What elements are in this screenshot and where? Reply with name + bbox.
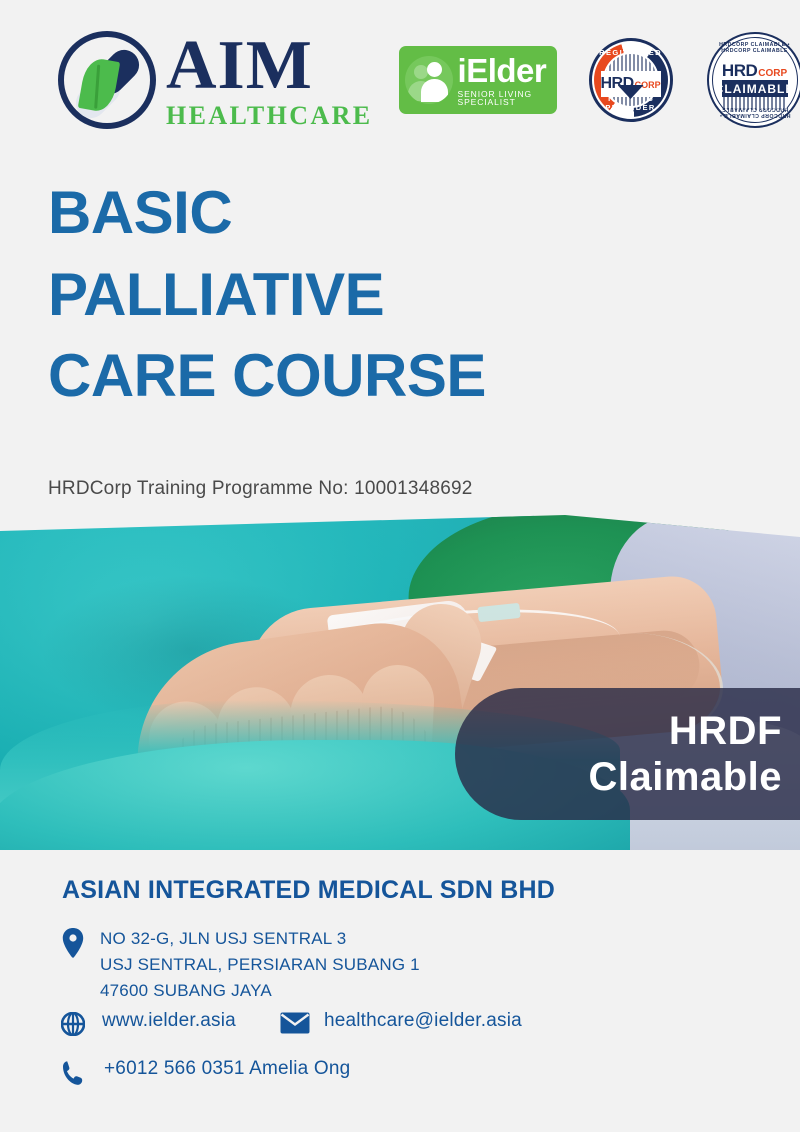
hrdf-banner-line-1: HRDF xyxy=(669,708,782,754)
globe-icon xyxy=(58,1012,88,1036)
hrdcorp-claimable-seal-icon: HRDCORP CLAIMABLE • HRDCORP CLAIMABLE HR… xyxy=(707,32,800,128)
ielder-logo-name: iElder xyxy=(458,54,557,87)
hrdf-banner-line-2: Claimable xyxy=(589,754,782,800)
envelope-icon xyxy=(280,1012,310,1034)
programme-number: HRDCorp Training Programme No: 100013486… xyxy=(48,478,473,500)
two-people-icon xyxy=(405,56,453,104)
phone-number[interactable]: +6012 566 0351 Amelia Ong xyxy=(104,1058,350,1080)
web-email-row: www.ielder.asia healthcare@ielder.asia xyxy=(58,1010,522,1036)
headline-line-3: CARE COURSE xyxy=(48,335,588,417)
registered-training-provider-seal-icon: REGISTERED TRAINING PROVIDER HRDCORP xyxy=(589,38,673,122)
hrdf-claimable-banner: HRDF Claimable xyxy=(455,688,800,820)
leaf-pill-circle-icon xyxy=(58,31,156,129)
logo-strip: AIM HEALTHCARE iElder SENIOR LIVING SPEC… xyxy=(58,26,768,134)
email-link[interactable]: healthcare@ielder.asia xyxy=(324,1010,522,1032)
hero-photo: HRDF Claimable xyxy=(0,515,800,850)
footer: ASIAN INTEGRATED MEDICAL SDN BHD NO 32-G… xyxy=(0,850,800,1132)
address-lines: NO 32-G, JLN USJ SENTRAL 3 USJ SENTRAL, … xyxy=(100,926,420,1003)
address-line-3: 47600 SUBANG JAYA xyxy=(100,978,420,1004)
aim-logo-title: AIM xyxy=(166,31,373,101)
phone-icon xyxy=(58,1060,88,1086)
headline-line-1: BASIC xyxy=(48,172,588,254)
seal-claimable-micro-top: HRDCORP CLAIMABLE • HRDCORP CLAIMABLE xyxy=(709,42,800,54)
poster-root: AIM HEALTHCARE iElder SENIOR LIVING SPEC… xyxy=(0,0,800,1132)
seal-claimable-brand: HRD xyxy=(722,62,757,79)
company-name: ASIAN INTEGRATED MEDICAL SDN BHD xyxy=(62,876,555,905)
address-row: NO 32-G, JLN USJ SENTRAL 3 USJ SENTRAL, … xyxy=(58,926,420,1003)
aim-healthcare-logo: AIM HEALTHCARE xyxy=(58,31,373,129)
phone-row: +6012 566 0351 Amelia Ong xyxy=(58,1058,350,1086)
address-line-1: NO 32-G, JLN USJ SENTRAL 3 xyxy=(100,926,420,952)
ielder-logo: iElder SENIOR LIVING SPECIALIST xyxy=(399,46,557,114)
seal-claimable-brand-suffix: CORP xyxy=(758,69,787,79)
ielder-wordmark: iElder SENIOR LIVING SPECIALIST xyxy=(458,54,557,107)
seal-claimable-label: CLAIMABLE xyxy=(722,80,788,97)
location-pin-icon xyxy=(58,928,88,958)
page-title: BASIC PALLIATIVE CARE COURSE xyxy=(48,172,588,417)
aim-wordmark: AIM HEALTHCARE xyxy=(166,31,373,129)
headline-line-2: PALLIATIVE xyxy=(48,254,588,336)
address-line-2: USJ SENTRAL, PERSIARAN SUBANG 1 xyxy=(100,952,420,978)
aim-logo-subtitle: HEALTHCARE xyxy=(166,103,373,129)
website-link[interactable]: www.ielder.asia xyxy=(102,1010,236,1032)
leaf-shape xyxy=(78,56,121,113)
ielder-logo-tagline: SENIOR LIVING SPECIALIST xyxy=(458,90,557,107)
